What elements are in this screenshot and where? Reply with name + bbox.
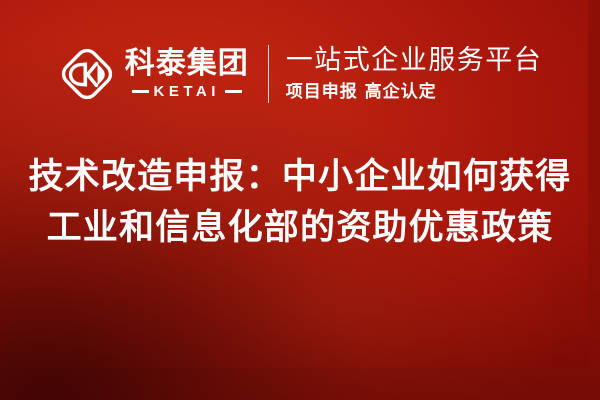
brand-header: 科泰集团 KETAI 一站式企业服务平台 项目申报 高企认定 bbox=[0, 38, 600, 110]
brand-logo-lockup[interactable]: 科泰集团 KETAI bbox=[58, 44, 249, 104]
brand-rule-right-icon bbox=[225, 90, 242, 93]
tagline-primary: 一站式企业服务平台 bbox=[286, 46, 543, 76]
page-title: 技术改造申报：中小企业如何获得 工业和信息化部的资助优惠政策 bbox=[0, 152, 600, 254]
brand-name-cn: 科泰集团 bbox=[125, 49, 249, 79]
brand-rule-left-icon bbox=[132, 90, 149, 93]
ketai-diamond-monogram-icon bbox=[58, 44, 116, 104]
brand-taglines: 一站式企业服务平台 项目申报 高企认定 bbox=[286, 46, 543, 102]
brand-name-latin: KETAI bbox=[149, 84, 225, 99]
headline-line-2: 工业和信息化部的资助优惠政策 bbox=[18, 203, 582, 254]
headline-line-1: 技术改造申报：中小企业如何获得 bbox=[18, 152, 582, 203]
brand-latin-row: KETAI bbox=[125, 84, 249, 99]
brand-divider bbox=[268, 45, 269, 103]
tagline-secondary: 项目申报 高企认定 bbox=[286, 82, 543, 102]
brand-wordmarks: 科泰集团 KETAI bbox=[125, 49, 249, 99]
promo-banner: 科泰集团 KETAI 一站式企业服务平台 项目申报 高企认定 技术改造申报：中小… bbox=[0, 0, 600, 400]
